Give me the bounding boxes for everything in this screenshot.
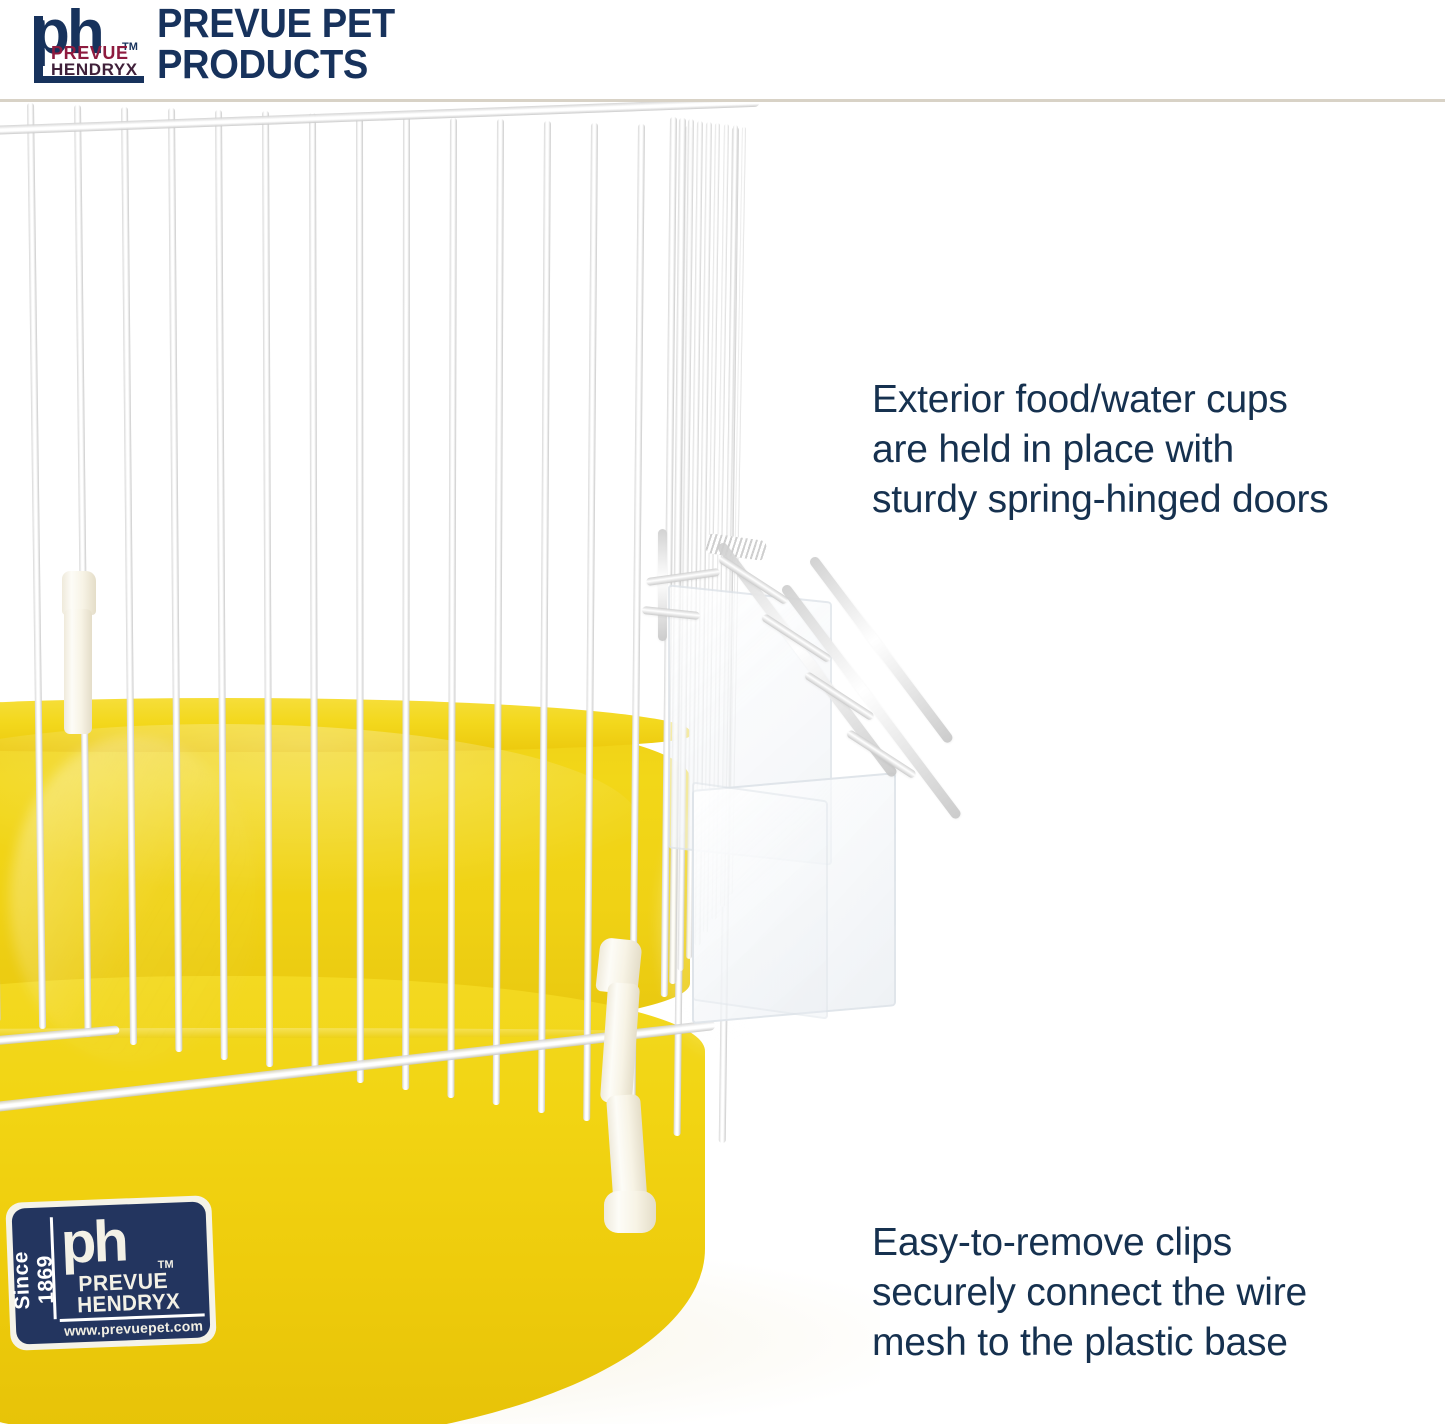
cage-wire	[309, 113, 319, 1075]
brand-header: ph TM PREVUE HENDRYX PREVUE PET PRODUCTS	[0, 0, 1445, 101]
cage-wire	[27, 103, 46, 1029]
cage-wire	[493, 119, 504, 1105]
cage-wire	[447, 118, 457, 1098]
badge-ph-mark: ph	[60, 1212, 127, 1272]
badge-hendryx-text: HENDRYX	[77, 1290, 181, 1316]
callout-easy-remove-clips: Easy-to-remove clips securely connect th…	[872, 1218, 1347, 1368]
cage-wire	[356, 115, 364, 1083]
callout-food-water-cups: Exterior food/water cups are held in pla…	[872, 375, 1347, 525]
hinge-arm-upper	[646, 568, 720, 586]
cage-wire	[121, 107, 137, 1045]
prevue-hendryx-logo: ph TM PREVUE HENDRYX	[26, 8, 144, 82]
food-water-cup-assembly	[640, 481, 1040, 1141]
hinge-post	[658, 529, 667, 641]
cage-wire	[538, 121, 551, 1113]
product-feature-image: ph TM PREVUE HENDRYX PREVUE PET PRODUCTS	[0, 0, 1445, 1424]
cage-wire	[168, 108, 182, 1052]
cage-wire	[0, 102, 1, 1022]
cage-wire	[262, 111, 273, 1067]
logo-hendryx-text: HENDRYX	[51, 61, 138, 78]
product-badge: Since 1869 ph TM PREVUE HENDRYX www.prev…	[5, 1195, 217, 1351]
cage-wire	[215, 110, 228, 1060]
header-divider	[0, 99, 1445, 102]
front-clear-cup-face	[692, 781, 828, 1019]
cage-wire	[402, 116, 410, 1090]
wire-clip-left	[52, 571, 100, 741]
brand-wordmark: PREVUE PET PRODUCTS	[157, 3, 395, 85]
product-photo: Since 1869 ph TM PREVUE HENDRYX www.prev…	[0, 101, 1445, 1424]
